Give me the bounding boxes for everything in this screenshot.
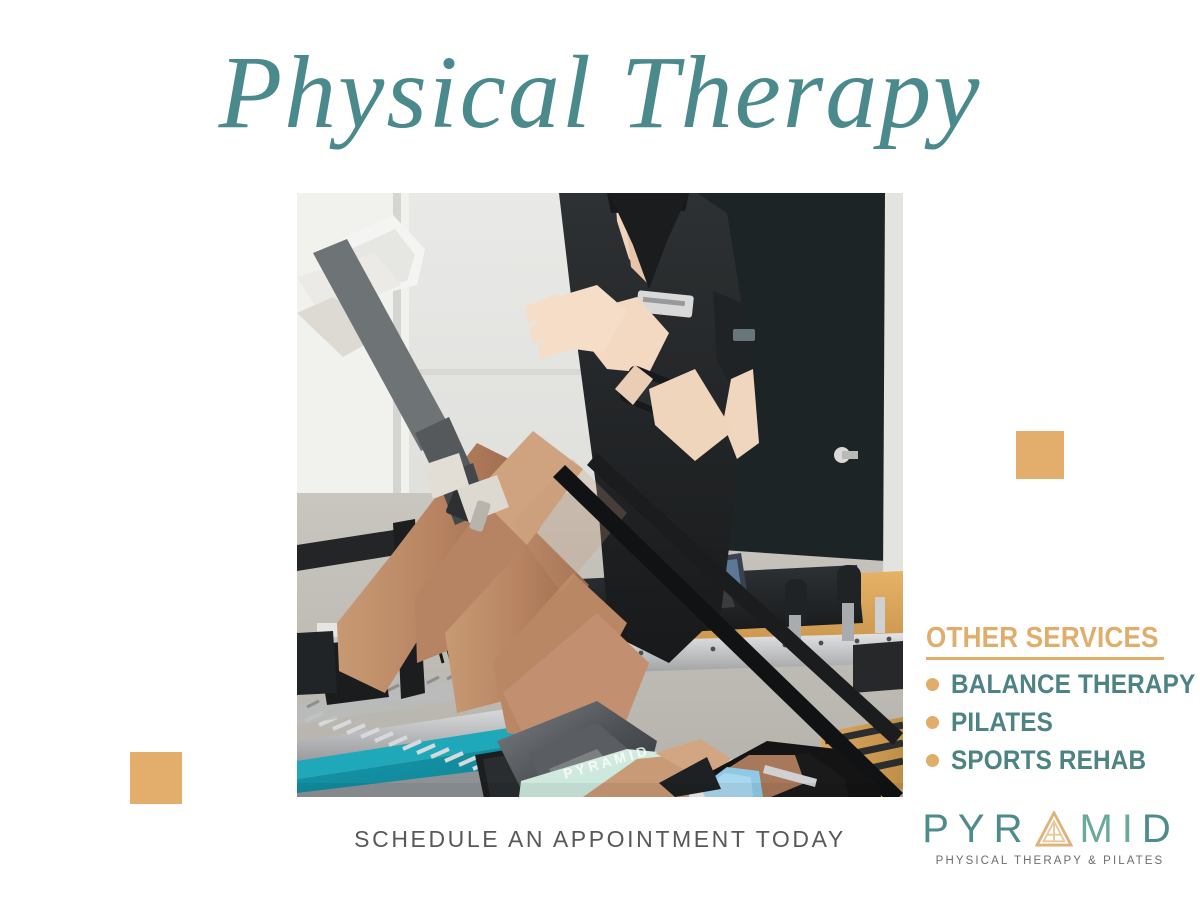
other-services-underline bbox=[926, 657, 1164, 660]
brand-logo[interactable]: P Y R M I D PHYSICAL THERAPY & PILATES bbox=[922, 808, 1178, 867]
logo-letter-d: D bbox=[1142, 809, 1178, 849]
list-item[interactable]: BALANCE THERAPY bbox=[926, 669, 1188, 700]
pyramid-triangle-icon bbox=[1035, 811, 1073, 847]
list-item[interactable]: PILATES bbox=[926, 707, 1188, 738]
service-label: BALANCE THERAPY bbox=[951, 669, 1195, 700]
logo-letter-p: P bbox=[922, 809, 956, 849]
brand-logo-wordmark: P Y R M I D bbox=[922, 808, 1178, 850]
bullet-icon bbox=[926, 678, 939, 691]
other-services-heading: OTHER SERVICES bbox=[926, 624, 1162, 653]
cta-caption: SCHEDULE AN APPOINTMENT TODAY bbox=[297, 826, 903, 853]
bullet-icon bbox=[926, 754, 939, 767]
brand-logo-tagline: PHYSICAL THERAPY & PILATES bbox=[922, 855, 1178, 867]
gold-square-right bbox=[1016, 431, 1064, 479]
poster-canvas: Physical Therapy bbox=[0, 0, 1200, 900]
logo-letter-i: I bbox=[1122, 809, 1140, 849]
other-services-list: BALANCE THERAPY PILATES SPORTS REHAB bbox=[926, 669, 1188, 776]
logo-letter-m: M bbox=[1079, 809, 1119, 849]
hero-photo: P Y R A M I D bbox=[297, 193, 903, 797]
bullet-icon bbox=[926, 716, 939, 729]
page-title: Physical Therapy bbox=[0, 38, 1200, 147]
hero-photo-illustration: P Y R A M I D bbox=[297, 193, 903, 797]
other-services-panel: OTHER SERVICES BALANCE THERAPY PILATES S… bbox=[926, 624, 1188, 783]
logo-letter-r: R bbox=[994, 809, 1030, 849]
gold-square-left bbox=[130, 752, 182, 804]
service-label: PILATES bbox=[951, 707, 1053, 738]
service-label: SPORTS REHAB bbox=[951, 745, 1146, 776]
list-item[interactable]: SPORTS REHAB bbox=[926, 745, 1188, 776]
logo-letter-y: Y bbox=[958, 809, 992, 849]
